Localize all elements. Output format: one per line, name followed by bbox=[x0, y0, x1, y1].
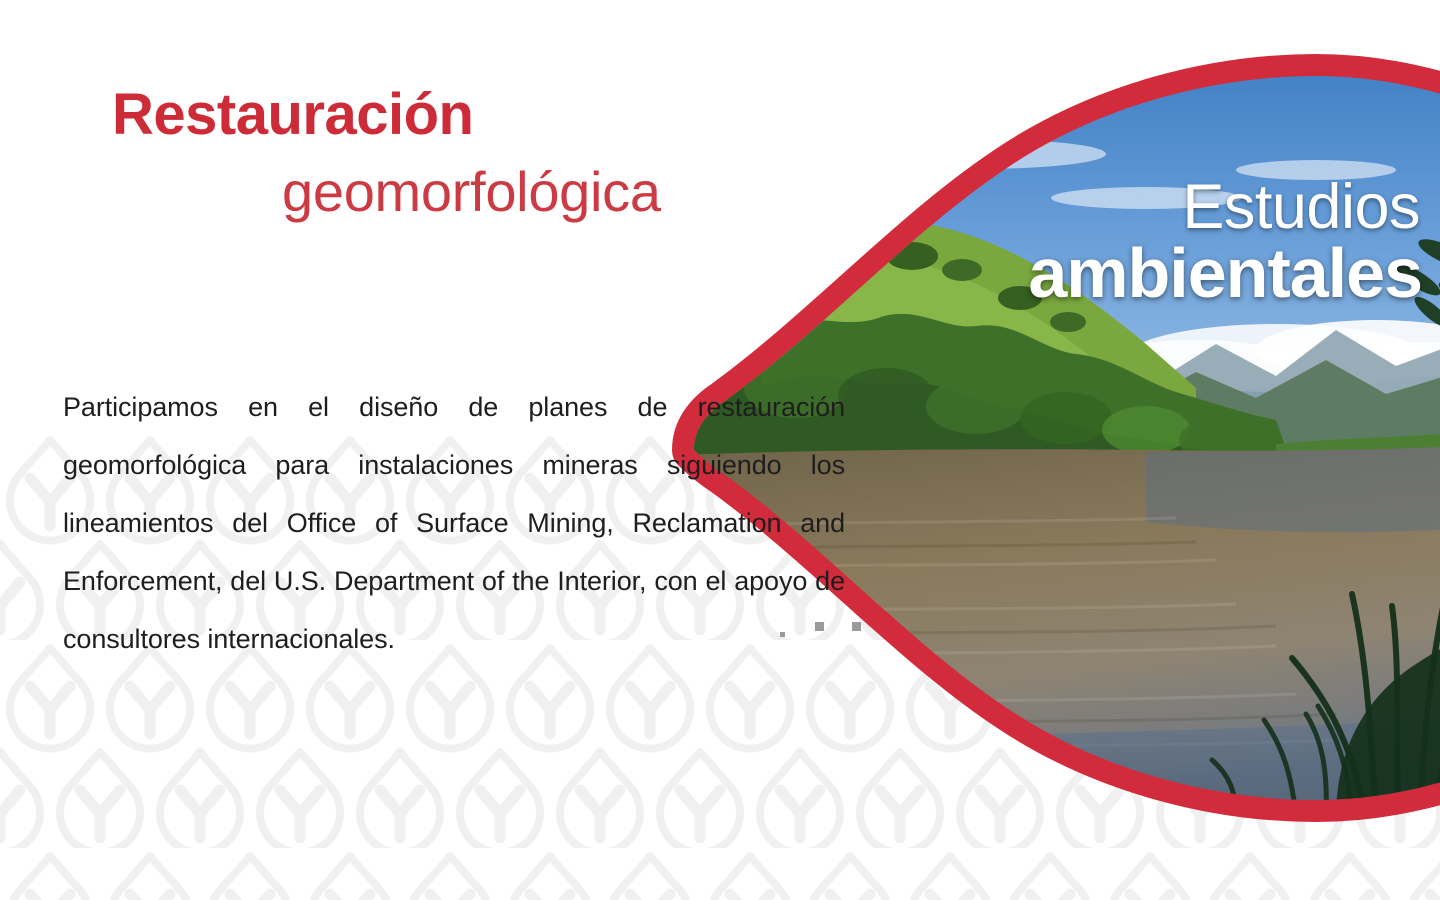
title-line-primary: Restauración bbox=[112, 86, 473, 144]
artifact-square-3 bbox=[780, 632, 785, 637]
artifact-square-2 bbox=[852, 622, 861, 631]
artifact-square-1 bbox=[815, 622, 824, 631]
slide-canvas: Restauración geomorfológica Participamos… bbox=[0, 0, 1440, 900]
body-paragraph: Participamos en el diseño de planes de r… bbox=[63, 378, 845, 668]
title-line-secondary: geomorfológica bbox=[282, 164, 661, 220]
